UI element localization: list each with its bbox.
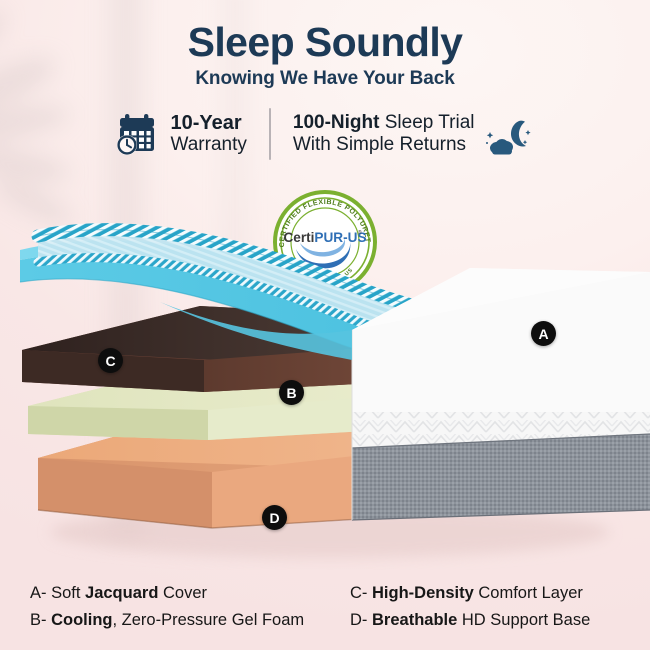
legend-key-c: C- bbox=[350, 584, 367, 602]
legend-item-b: B- Cooling, Zero-Pressure Gel Foam bbox=[30, 607, 330, 634]
legend-key-d: D- bbox=[350, 611, 367, 629]
warranty-badge-text: 10-Year Warranty bbox=[171, 112, 247, 156]
sleep-trial-text: 100-Night Sleep Trial With Simple Return… bbox=[293, 112, 475, 155]
legend-column-left: A- Soft Jacquard Cover B- Cooling, Zero-… bbox=[0, 580, 330, 642]
legend-post-c: Comfort Layer bbox=[474, 584, 583, 602]
legend-item-a: A- Soft Jacquard Cover bbox=[30, 580, 330, 607]
legend-bold-d: Breathable bbox=[372, 611, 457, 629]
legend-bold-c: High-Density bbox=[372, 584, 474, 602]
sleep-trial-headline-rest: Sleep Trial bbox=[379, 112, 474, 133]
calendar-clock-icon bbox=[116, 112, 162, 156]
sleep-trial-headline: 100-Night Sleep Trial bbox=[293, 112, 475, 134]
legend-column-right: C- High-Density Comfort Layer D- Breatha… bbox=[330, 580, 650, 642]
legend-item-c: C- High-Density Comfort Layer bbox=[350, 580, 650, 607]
mattress-layers-illustration bbox=[0, 210, 650, 570]
legend-item-d: D- Breathable HD Support Base bbox=[350, 607, 650, 634]
promo-infographic: Sleep Soundly Knowing We Have Your Back bbox=[0, 0, 650, 650]
layer-marker-d[interactable]: D bbox=[262, 505, 287, 530]
legend-pre-a: Soft bbox=[47, 584, 86, 602]
layer-legend: A- Soft Jacquard Cover B- Cooling, Zero-… bbox=[0, 580, 650, 642]
warranty-headline: 10-Year bbox=[171, 112, 247, 134]
layer-marker-b[interactable]: B bbox=[279, 380, 304, 405]
layer-marker-a[interactable]: A bbox=[531, 321, 556, 346]
trust-badges: 10-Year Warranty 100-Night Sleep Trial W… bbox=[0, 101, 650, 167]
page-title: Sleep Soundly bbox=[0, 22, 650, 63]
warranty-badge: 10-Year Warranty bbox=[116, 112, 269, 156]
legend-post-a: Cover bbox=[158, 584, 207, 602]
legend-post-d: HD Support Base bbox=[457, 611, 590, 629]
sleep-trial-headline-bold: 100-Night bbox=[293, 112, 380, 133]
warranty-subline: Warranty bbox=[171, 134, 247, 156]
page-subtitle: Knowing We Have Your Back bbox=[0, 68, 650, 90]
legend-bold-b: Cooling bbox=[51, 611, 112, 629]
layer-marker-c[interactable]: C bbox=[98, 348, 123, 373]
legend-post-b: , Zero-Pressure Gel Foam bbox=[113, 611, 305, 629]
moon-cloud-icon bbox=[481, 116, 535, 160]
sleep-trial-subline: With Simple Returns bbox=[293, 134, 475, 156]
legend-key-b: B- bbox=[30, 611, 47, 629]
legend-key-a: A- bbox=[30, 584, 47, 602]
sleep-trial-badge: 100-Night Sleep Trial With Simple Return… bbox=[271, 112, 535, 155]
legend-bold-a: Jacquard bbox=[85, 584, 158, 602]
